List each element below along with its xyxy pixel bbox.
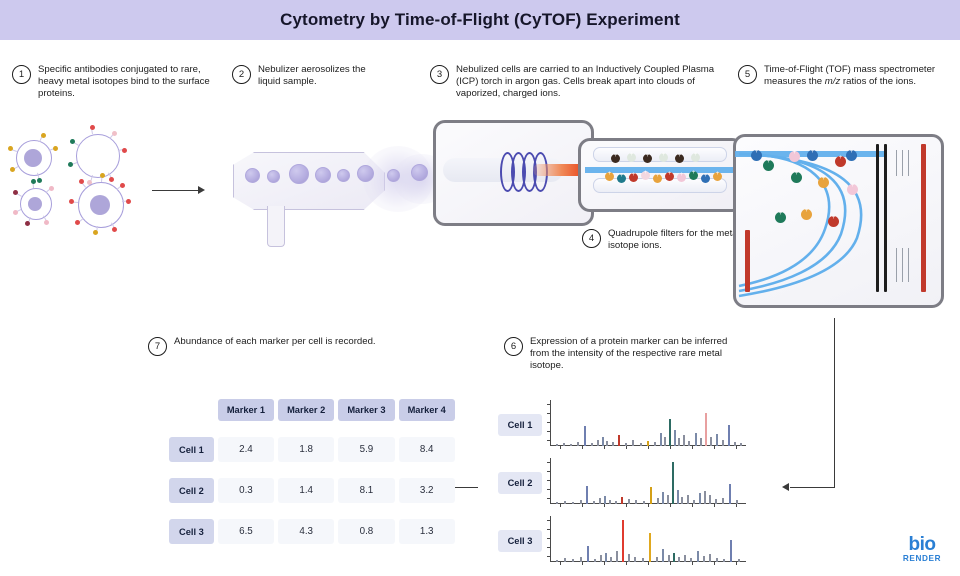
step-callout-7: 7 Abundance of each marker per cell is r…	[148, 336, 448, 356]
spectrum-peak	[662, 549, 664, 562]
spectrum-peak	[616, 551, 618, 562]
step-callout-2: 2 Nebulizer aerosolizes the liquid sampl…	[232, 64, 382, 88]
antibody-metal-isotope-marker	[122, 148, 127, 153]
step-number: 7	[148, 337, 167, 356]
x-axis-tick	[560, 446, 561, 449]
spectrum-peak	[580, 500, 582, 504]
tof-ion	[835, 156, 846, 167]
y-axis-tick	[547, 547, 551, 548]
tof-ion	[789, 151, 800, 162]
y-axis-tick	[547, 538, 551, 539]
cell-value: 1.3	[399, 519, 455, 544]
row-header-3: Cell 3	[169, 519, 214, 544]
spectrum-peak	[709, 495, 711, 504]
antibody-metal-isotope-marker	[112, 227, 117, 232]
y-axis-tick	[547, 498, 551, 499]
metal-isotope-ion	[713, 172, 722, 181]
step-text: Time-of-Flight (TOF) mass spectrometer m…	[764, 64, 953, 88]
spectrum-peak	[634, 557, 636, 562]
step-callout-5: 5 Time-of-Flight (TOF) mass spectrometer…	[738, 64, 953, 88]
aerosolized-cell	[357, 165, 374, 182]
x-axis-tick	[670, 446, 671, 449]
spectrum-peak	[738, 559, 740, 562]
y-axis-tick	[547, 556, 551, 557]
x-axis-tick	[582, 504, 583, 507]
tof-ion	[775, 212, 786, 223]
spectrum-peak	[610, 557, 612, 562]
spectrum-row-3: Cell 3	[498, 516, 748, 568]
spectrum-peak	[649, 533, 651, 562]
spectrum-peak	[609, 500, 611, 504]
x-axis-tick	[692, 504, 693, 507]
spectrum-peak	[684, 555, 686, 562]
metal-isotope-ion	[617, 174, 626, 183]
spectrum-peak	[668, 555, 670, 562]
spectrum-peak	[690, 558, 692, 562]
cell-value: 3.2	[399, 478, 455, 503]
antibody-metal-isotope-marker	[68, 162, 73, 167]
tof-ions-layer	[733, 134, 938, 302]
aerosolized-cell	[267, 170, 280, 183]
y-axis-tick	[547, 480, 551, 481]
mass-spectra-panel: Cell 1Cell 2Cell 3	[498, 400, 748, 576]
metal-isotope-ion	[641, 171, 650, 180]
spectrum-peak	[556, 502, 558, 504]
tof-ion	[818, 177, 829, 188]
spectrum-peak	[716, 558, 718, 562]
spectrum-peak	[704, 491, 706, 504]
spectrum-peak	[584, 426, 586, 446]
spectrum-label: Cell 2	[498, 472, 542, 494]
y-axis-tick	[547, 422, 551, 423]
x-axis-tick	[560, 504, 561, 507]
spectrum-peak	[715, 499, 717, 504]
header-bar: Cytometry by Time-of-Flight (CyTOF) Expe…	[0, 0, 960, 40]
metal-isotope-ion	[701, 174, 710, 183]
antibody-metal-isotope-marker	[41, 133, 46, 138]
spectrum-peak	[599, 498, 601, 504]
x-axis-tick	[648, 562, 649, 565]
spectrum-plot	[550, 458, 748, 510]
step-text: Nebulized cells are carried to an Induct…	[456, 64, 730, 99]
tof-ion	[791, 172, 802, 183]
spectrum-plot	[550, 516, 748, 568]
x-axis-tick	[604, 446, 605, 449]
metal-isotope-ion	[677, 173, 686, 182]
spectrum-peak	[580, 557, 582, 562]
spectrum-peak	[722, 498, 724, 504]
step-number: 3	[430, 65, 449, 84]
spectrum-peak	[673, 553, 675, 562]
spectrum-peak	[678, 438, 680, 446]
table-body: Cell 12.41.85.98.4Cell 20.31.48.13.2Cell…	[169, 437, 455, 544]
x-axis-tick	[670, 504, 671, 507]
spectrum-peak	[572, 502, 574, 504]
spectrum-peak	[672, 462, 674, 504]
tof-ion	[807, 150, 818, 161]
y-axis-tick	[547, 462, 551, 463]
spectrum-peak	[699, 493, 701, 504]
cell-nucleus	[90, 195, 110, 215]
biorender-logo: bio RENDER	[893, 536, 951, 563]
table: Marker 1Marker 2Marker 3Marker 4 Cell 12…	[165, 383, 459, 560]
cell-nucleus	[28, 197, 42, 211]
spectrum-peak	[577, 442, 579, 446]
antibody-metal-isotope-marker	[49, 186, 54, 191]
x-axis-tick	[736, 504, 737, 507]
spectrum-peak	[604, 496, 606, 504]
x-axis-tick	[626, 446, 627, 449]
step-callout-6: 6 Expression of a protein marker can be …	[504, 336, 729, 371]
spectrum-peak	[688, 441, 690, 446]
table-row: Cell 20.31.48.13.2	[169, 478, 455, 503]
aerosolized-cell	[387, 169, 400, 182]
spectrum-peak	[587, 546, 589, 562]
row-header-1: Cell 1	[169, 437, 214, 462]
antibody-metal-isotope-marker	[112, 131, 117, 136]
metal-isotope-ion	[605, 172, 614, 181]
cell-value: 4.3	[278, 519, 334, 544]
antibody-metal-isotope-marker	[93, 230, 98, 235]
y-axis-tick	[547, 440, 551, 441]
x-axis-tick	[714, 562, 715, 565]
x-axis-tick	[692, 562, 693, 565]
flow-arrow-1	[152, 190, 200, 191]
cell-value: 5.9	[338, 437, 394, 462]
spectrum-peak	[600, 555, 602, 562]
spectrum-peak	[683, 435, 685, 446]
spectrum-label: Cell 3	[498, 530, 542, 552]
step-number: 2	[232, 65, 251, 84]
diagram-canvas: Cytometry by Time-of-Flight (CyTOF) Expe…	[0, 0, 960, 576]
x-axis-tick	[560, 562, 561, 565]
spectrum-peak	[674, 430, 676, 446]
marker-abundance-table: Marker 1Marker 2Marker 3Marker 4 Cell 12…	[165, 383, 459, 560]
x-axis-tick	[692, 446, 693, 449]
spectrum-peak	[656, 557, 658, 562]
spectrum-peak	[615, 501, 617, 504]
antibody-metal-isotope-marker	[70, 139, 75, 144]
x-axis-tick	[582, 446, 583, 449]
spectrum-peak	[740, 443, 742, 446]
spectrum-peak	[687, 495, 689, 504]
metal-isotope-ion	[653, 174, 662, 183]
y-axis-tick	[547, 520, 551, 521]
spectrum-peak	[695, 433, 697, 446]
aerosolized-cell	[245, 168, 260, 183]
spectrum-peak	[669, 419, 671, 446]
step-callout-3: 3 Nebulized cells are carried to an Indu…	[430, 64, 730, 99]
antibody-metal-isotope-marker	[69, 199, 74, 204]
spectrum-peak	[642, 558, 644, 562]
flow-arrow-1-head	[198, 186, 205, 194]
spectrum-peak	[572, 559, 574, 562]
spectrum-peak	[705, 413, 707, 446]
spectrum-peak	[594, 559, 596, 562]
x-axis-tick	[736, 446, 737, 449]
spectrum-peak	[556, 444, 558, 446]
x-axis-tick	[604, 504, 605, 507]
spectrum-peak	[734, 442, 736, 446]
spectrum-label: Cell 1	[498, 414, 542, 436]
metal-isotope-ion	[629, 173, 638, 182]
antibody-metal-isotope-marker	[10, 167, 15, 172]
metal-isotope-ion	[627, 153, 636, 162]
step-text: Expression of a protein marker can be in…	[530, 336, 729, 371]
y-axis-tick	[547, 489, 551, 490]
cell-1	[16, 140, 50, 174]
antibody-metal-isotope-marker	[75, 220, 80, 225]
column-header-3: Marker 3	[338, 399, 394, 421]
spectrum-peak	[640, 443, 642, 446]
tof-ion	[846, 150, 857, 161]
spectrum-peak	[677, 490, 679, 504]
spectrum-peak	[622, 520, 624, 562]
spectrum-peak	[570, 444, 572, 446]
spectrum-row-2: Cell 2	[498, 458, 748, 510]
spectrum-peak	[662, 492, 664, 504]
antibody-metal-isotope-marker	[37, 178, 42, 183]
cell-3	[20, 188, 50, 218]
tof-ion	[801, 209, 812, 220]
table-row: Cell 12.41.85.98.4	[169, 437, 455, 462]
tof-ion	[763, 160, 774, 171]
step-text: Abundance of each marker per cell is rec…	[174, 336, 376, 348]
antibody-metal-isotope-marker	[25, 221, 30, 226]
spectrum-peak	[625, 443, 627, 446]
spectrum-peak	[709, 554, 711, 562]
spectrum-peak	[597, 440, 599, 446]
cell-value: 8.4	[399, 437, 455, 462]
metal-isotope-ion	[659, 153, 668, 162]
cell-value: 8.1	[338, 478, 394, 503]
antibody-metal-isotope-marker	[109, 177, 114, 182]
metal-isotope-ion	[675, 154, 684, 163]
step-text: Specific antibodies conjugated to rare, …	[38, 64, 227, 99]
spectrum-peak	[693, 500, 695, 504]
cell-membrane	[76, 134, 120, 178]
y-axis-tick	[547, 529, 551, 530]
metal-isotope-ion	[643, 154, 652, 163]
spectrum-peak	[621, 497, 623, 504]
antibody-metal-isotope-marker	[100, 173, 105, 178]
antibody-metal-isotope-marker	[13, 210, 18, 215]
spectrum-peak	[563, 443, 565, 446]
table-corner	[169, 399, 214, 421]
antibody-metal-isotope-marker	[53, 146, 58, 151]
flow-arrow-2-horizontal	[790, 487, 835, 488]
step-text: Nebulizer aerosolizes the liquid sample.	[258, 64, 382, 88]
flow-arrow-2-head	[782, 483, 789, 491]
x-axis-tick	[582, 562, 583, 565]
cell-value: 1.8	[278, 437, 334, 462]
x-axis-tick	[736, 562, 737, 565]
spectrum-peak	[703, 556, 705, 562]
spectrum-peak	[643, 501, 645, 504]
aerosolized-cell	[289, 164, 309, 184]
spectrum-peak	[710, 437, 712, 446]
spectrum-peak	[586, 486, 588, 504]
spectrum-peak	[605, 553, 607, 562]
spectrum-peak	[647, 441, 649, 446]
step-number: 5	[738, 65, 757, 84]
step-number: 6	[504, 337, 523, 356]
page-title: Cytometry by Time-of-Flight (CyTOF) Expe…	[280, 10, 680, 30]
aerosolized-cell	[337, 169, 350, 182]
x-axis-tick	[648, 446, 649, 449]
biorender-subtitle: RENDER	[893, 554, 951, 563]
spectrum-peak	[618, 435, 620, 446]
column-header-1: Marker 1	[218, 399, 274, 421]
spectrum-peak	[650, 487, 652, 504]
cell-value: 6.5	[218, 519, 274, 544]
y-axis-tick	[547, 404, 551, 405]
cell-value: 0.8	[338, 519, 394, 544]
spectrum-peak	[632, 440, 634, 446]
x-axis-tick	[648, 504, 649, 507]
spectrum-row-1: Cell 1	[498, 400, 748, 452]
metal-isotope-ion	[611, 154, 620, 163]
labelled-cells-illustration	[6, 126, 166, 231]
spectrum-peak	[664, 437, 666, 446]
column-header-4: Marker 4	[399, 399, 455, 421]
spectrum-peak	[730, 540, 732, 562]
metal-isotope-ion	[665, 172, 674, 181]
metal-isotope-ion	[689, 171, 698, 180]
metal-isotope-ion	[691, 153, 700, 162]
x-axis-tick	[604, 562, 605, 565]
spectrum-peak	[729, 484, 731, 504]
spectrum-peak	[635, 500, 637, 504]
spectrum-peak	[593, 501, 595, 504]
spectrum-peak	[667, 495, 669, 504]
cell-2	[76, 134, 118, 176]
antibody-metal-isotope-marker	[120, 183, 125, 188]
cell-nucleus	[24, 149, 42, 167]
flow-arrow-2-vertical	[834, 318, 835, 488]
antibody-metal-isotope-marker	[44, 220, 49, 225]
x-axis-tick	[626, 504, 627, 507]
step-callout-1: 1 Specific antibodies conjugated to rare…	[12, 64, 227, 99]
spectrum-peak	[628, 499, 630, 504]
cell-value: 0.3	[218, 478, 274, 503]
x-axis-tick	[714, 504, 715, 507]
antibody-metal-isotope-marker	[90, 125, 95, 130]
spectrum-peak	[564, 558, 566, 562]
spectrum-peak	[722, 440, 724, 446]
spectrum-peak	[660, 433, 662, 446]
spectrum-peak	[556, 560, 558, 562]
spectrum-peak	[564, 501, 566, 504]
tof-ion	[751, 150, 762, 161]
step-number: 1	[12, 65, 31, 84]
spectrum-peak	[654, 442, 656, 446]
spectrum-plot	[550, 400, 748, 452]
tof-ion	[847, 184, 858, 195]
spectrum-peak	[697, 551, 699, 562]
cell-value: 1.4	[278, 478, 334, 503]
spectrum-peak	[678, 557, 680, 562]
aerosolized-cell	[315, 167, 331, 183]
y-axis-tick	[547, 431, 551, 432]
spectrum-peak	[606, 441, 608, 446]
table-row: Cell 36.54.30.81.3	[169, 519, 455, 544]
spectrum-peak	[628, 554, 630, 562]
spectrum-peak	[657, 498, 659, 504]
spectrum-peak	[681, 497, 683, 504]
spectrum-peak	[723, 559, 725, 562]
spectrum-peak	[728, 425, 730, 446]
spectrum-peak	[700, 438, 702, 446]
x-axis-tick	[626, 562, 627, 565]
tof-ion	[828, 216, 839, 227]
table-header-row: Marker 1Marker 2Marker 3Marker 4	[169, 399, 455, 421]
aerosolized-cell	[411, 164, 428, 181]
y-axis-tick	[547, 413, 551, 414]
spectrum-peak	[602, 437, 604, 446]
spectrum-peak	[736, 500, 738, 504]
instrument-illustration	[215, 120, 955, 310]
antibody-metal-isotope-marker	[126, 199, 131, 204]
quadrupole-ions-layer	[593, 140, 728, 195]
column-header-2: Marker 2	[278, 399, 334, 421]
antibody-metal-isotope-marker	[31, 179, 36, 184]
spectrum-peak	[716, 434, 718, 446]
cell-4	[78, 182, 122, 226]
x-axis-tick	[670, 562, 671, 565]
cell-value: 2.4	[218, 437, 274, 462]
spectrum-peak	[591, 443, 593, 446]
x-axis-tick	[714, 446, 715, 449]
spectrum-peak	[612, 442, 614, 446]
row-header-2: Cell 2	[169, 478, 214, 503]
y-axis-tick	[547, 471, 551, 472]
biorender-wordmark: bio	[893, 536, 951, 554]
